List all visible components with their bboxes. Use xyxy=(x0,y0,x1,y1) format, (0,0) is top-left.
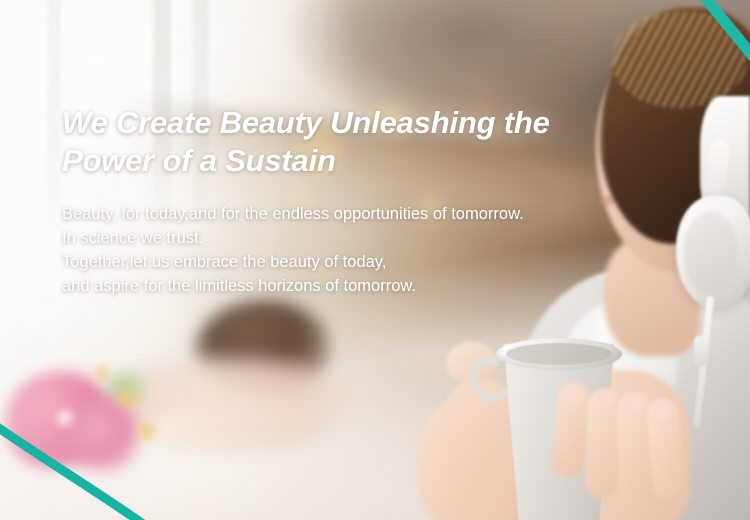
hero-subcopy: Beauty, for today,and for the endless op… xyxy=(62,202,702,298)
hero-headline: We Create Beauty Unleashing the Power of… xyxy=(62,104,702,180)
hero-banner: We Create Beauty Unleashing the Power of… xyxy=(0,0,750,520)
hero-copy: We Create Beauty Unleashing the Power of… xyxy=(62,104,702,298)
